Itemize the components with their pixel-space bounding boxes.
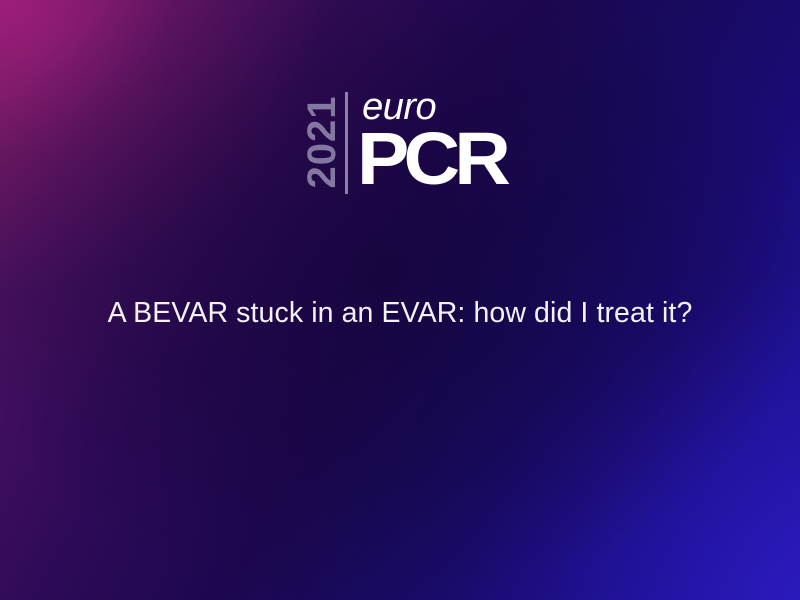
logo-year-text: 2021 [302,96,342,189]
logo-lockup: 2021 euro PCR [303,86,497,198]
presentation-slide: 2021 euro PCR A BEVAR stuck in an EVAR: … [0,0,800,600]
slide-title: A BEVAR stuck in an EVAR: how did I trea… [48,296,752,332]
title-container: A BEVAR stuck in an EVAR: how did I trea… [0,296,800,332]
logo-pcr-text: PCR [357,129,505,190]
europcr-logo: 2021 euro PCR [0,86,800,198]
logo-year-container: 2021 [303,86,341,198]
logo-wordmark: euro PCR [359,86,497,198]
logo-divider [345,92,348,194]
